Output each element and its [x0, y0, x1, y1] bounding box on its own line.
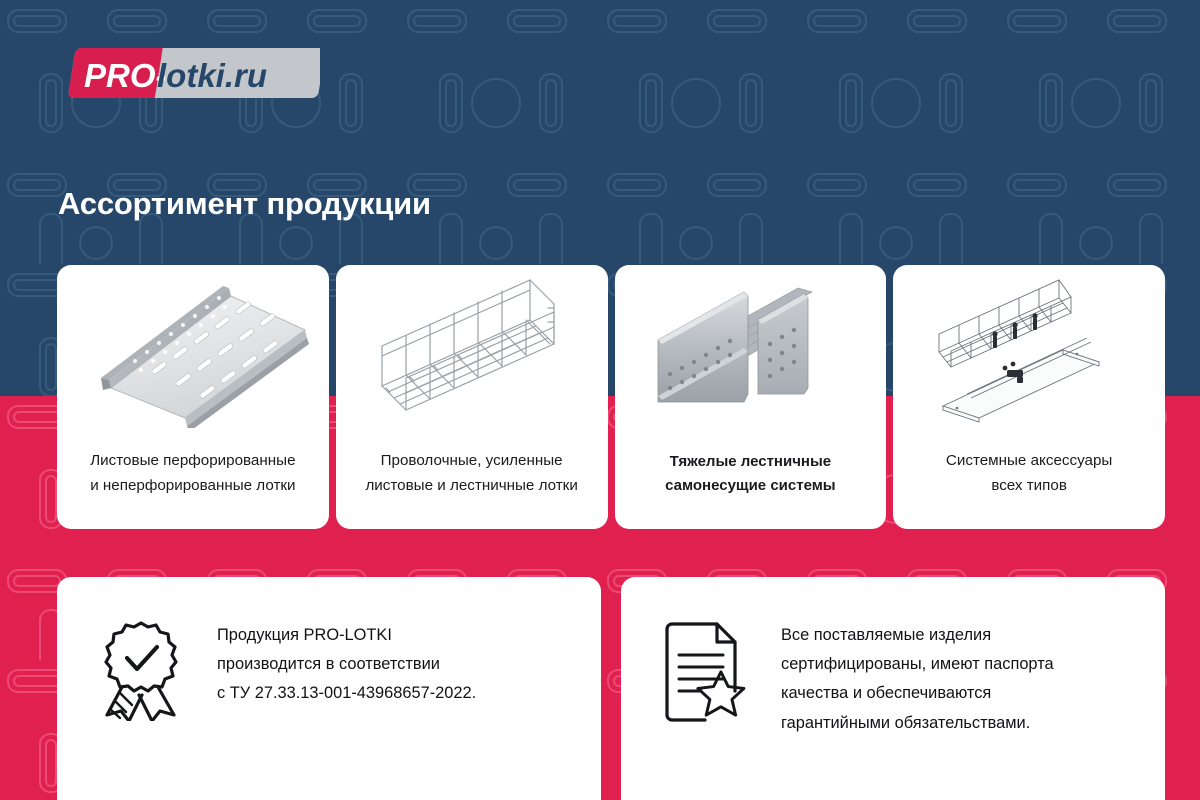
certificate-document-icon — [657, 617, 753, 725]
info-panel-certification-tu: Продукция PRO-LOTKI производится в соотв… — [57, 577, 601, 800]
heavy-duty-ladder-cable-tray-photo — [615, 265, 887, 433]
info-line: сертифицированы, имеют паспорта — [781, 650, 1054, 679]
system-accessories-drawing — [893, 265, 1165, 433]
logo-red-text: PRO- — [84, 57, 167, 94]
product-caption: Системные аксессуары всех типов — [934, 433, 1124, 529]
logo-gray-text: lotki.ru — [157, 57, 267, 94]
info-line: Продукция PRO-LOTKI — [217, 621, 476, 650]
quality-badge-icon — [93, 617, 189, 725]
info-line: с ТУ 27.33.13-001-43968657-2022. — [217, 679, 476, 708]
caption-line: всех типов — [991, 474, 1067, 499]
product-card[interactable]: Проволочные, усиленные листовые и лестни… — [336, 265, 608, 529]
product-card[interactable]: Тяжелые лестничные самонесущие системы — [615, 265, 887, 529]
product-card-row: Листовые перфорированные и неперфорирова… — [57, 265, 1165, 529]
caption-line: Листовые перфорированные — [90, 449, 295, 474]
product-caption: Проволочные, усиленные листовые и лестни… — [353, 433, 589, 529]
info-line: производится в соответствии — [217, 650, 476, 679]
caption-line: Проволочные, усиленные — [381, 449, 563, 474]
product-card[interactable]: Системные аксессуары всех типов — [893, 265, 1165, 529]
info-panel-certificates-warranty: Все поставляемые изделия сертифицированы… — [621, 577, 1165, 800]
caption-line: листовые и лестничные лотки — [365, 474, 577, 499]
wire-mesh-cable-tray-drawing — [336, 265, 608, 433]
info-panel-row: Продукция PRO-LOTKI производится в соотв… — [57, 577, 1165, 800]
pro-lotki-logo[interactable]: PRO- lotki.ru — [58, 46, 320, 102]
caption-line: Системные аксессуары — [946, 449, 1112, 474]
product-caption: Листовые перфорированные и неперфорирова… — [78, 433, 307, 529]
info-line: качества и обеспечиваются — [781, 679, 1054, 708]
info-panel-text: Все поставляемые изделия сертифицированы… — [781, 617, 1054, 738]
product-caption: Тяжелые лестничные самонесущие системы — [653, 433, 848, 529]
info-panel-text: Продукция PRO-LOTKI производится в соотв… — [217, 617, 476, 709]
caption-line: и неперфорированные лотки — [90, 474, 295, 499]
caption-line: Тяжелые лестничные — [670, 450, 832, 474]
product-card[interactable]: Листовые перфорированные и неперфорирова… — [57, 265, 329, 529]
info-line: Все поставляемые изделия — [781, 621, 1054, 650]
perforated-sheet-cable-tray-photo — [57, 265, 329, 433]
caption-line: самонесущие системы — [665, 474, 836, 498]
info-line: гарантийными обязательствами. — [781, 709, 1054, 738]
page-title: Ассортимент продукции — [58, 186, 431, 222]
poster-root: PRO- lotki.ru Ассортимент продукции — [0, 0, 1200, 800]
